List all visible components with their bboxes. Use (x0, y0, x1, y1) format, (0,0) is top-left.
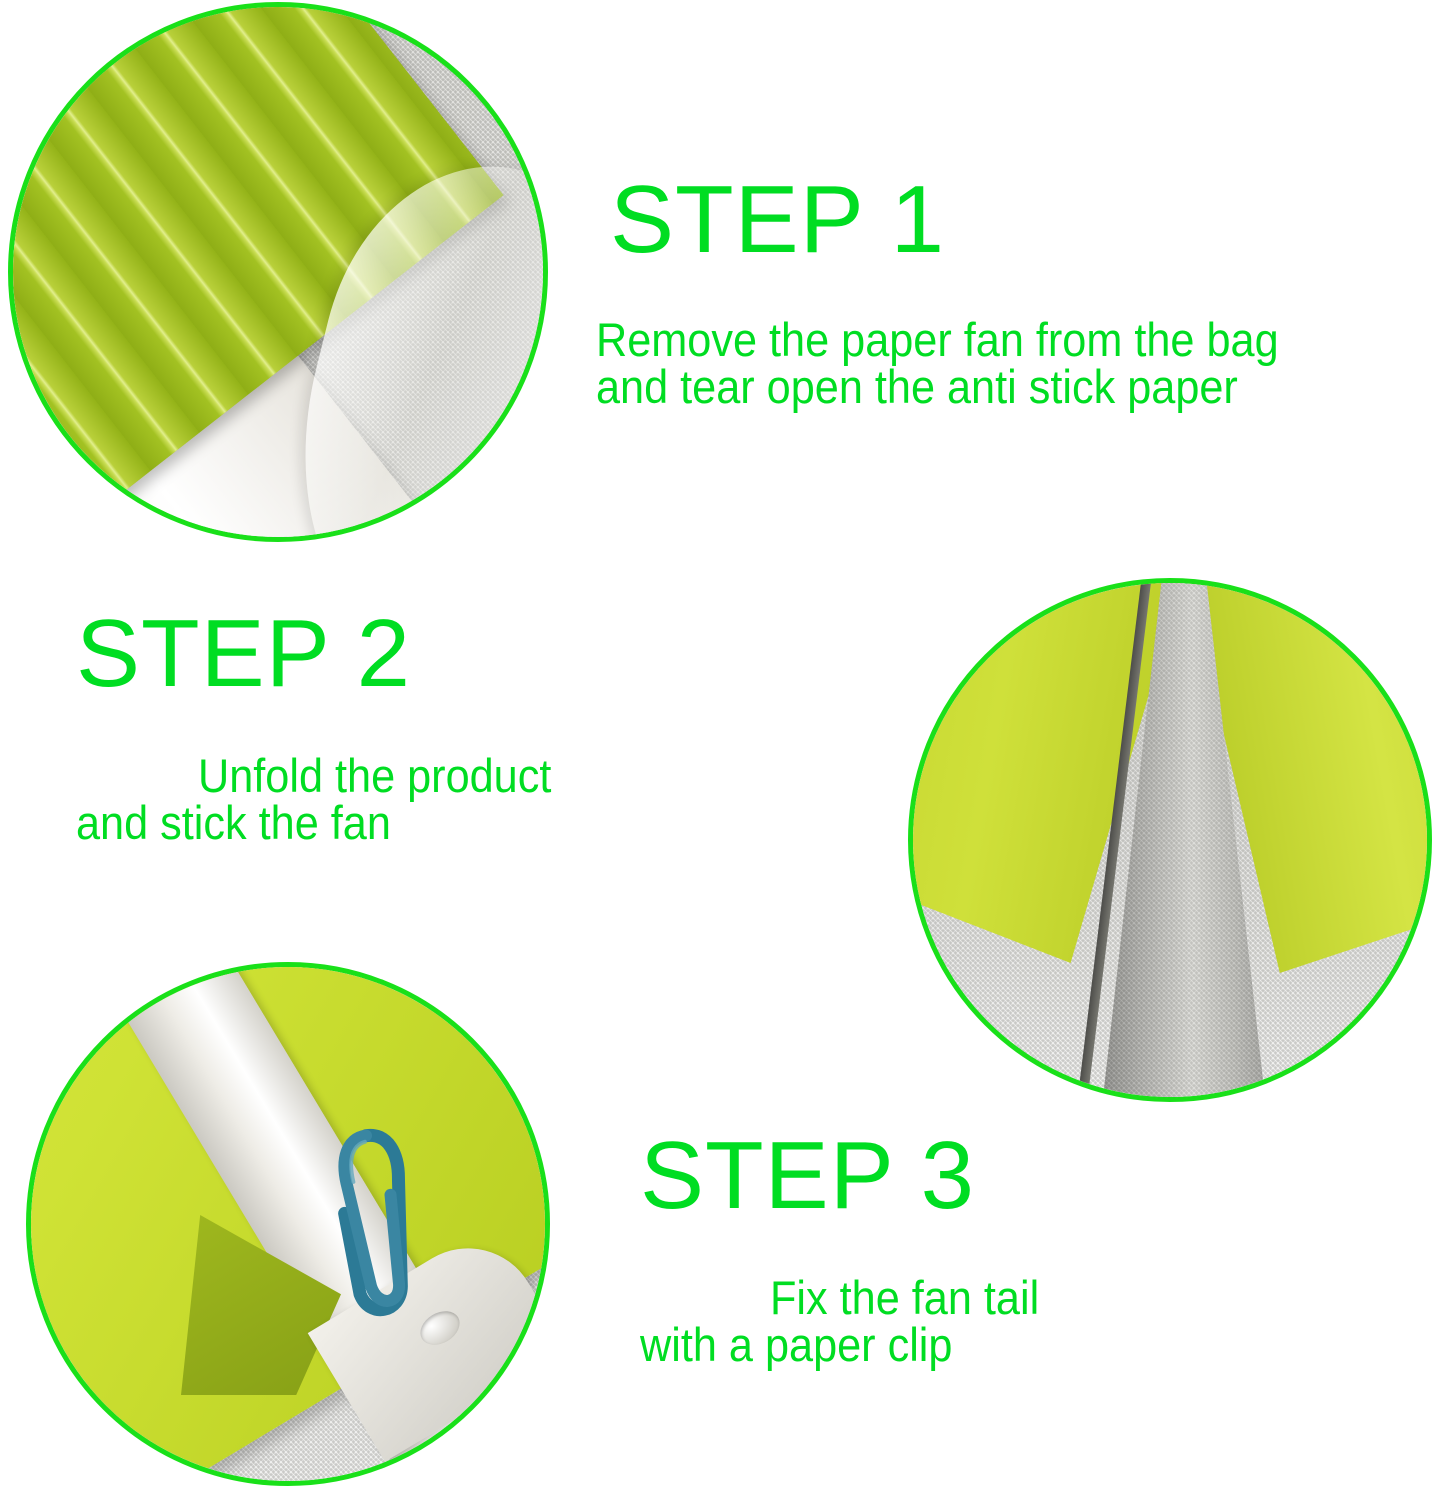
step-1-line-2: and tear open the anti stick paper (596, 363, 1279, 410)
step-2-text-block: STEP 2 Unfold the product and stick the … (76, 606, 582, 846)
step-1-line-1: Remove the paper fan from the bag (596, 316, 1279, 363)
photo-fan-tail-paperclip (26, 962, 550, 1486)
photo-inner-1 (13, 7, 543, 537)
photo-inner-3 (31, 967, 545, 1481)
step-3-text-block: STEP 3 Fix the fan tail with a paper cli… (640, 1128, 1063, 1368)
step-2-line-1: Unfold the product (198, 752, 551, 799)
instruction-sheet: STEP 1 Remove the paper fan from the bag… (0, 0, 1437, 1500)
photo-fan-in-bag (8, 2, 548, 542)
step-2-title: STEP 2 (76, 606, 582, 702)
step-2-line-2: and stick the fan (76, 799, 542, 846)
step-1-title: STEP 1 (610, 172, 1338, 268)
step-3-line-1: Fix the fan tail (770, 1274, 1039, 1321)
step-3-line-2: with a paper clip (640, 1321, 1029, 1368)
photo-unfolded-product (908, 578, 1432, 1102)
step-3-title: STEP 3 (640, 1128, 1063, 1224)
step-1-text-block: STEP 1 Remove the paper fan from the bag… (596, 172, 1338, 410)
photo-inner-2 (913, 583, 1427, 1097)
